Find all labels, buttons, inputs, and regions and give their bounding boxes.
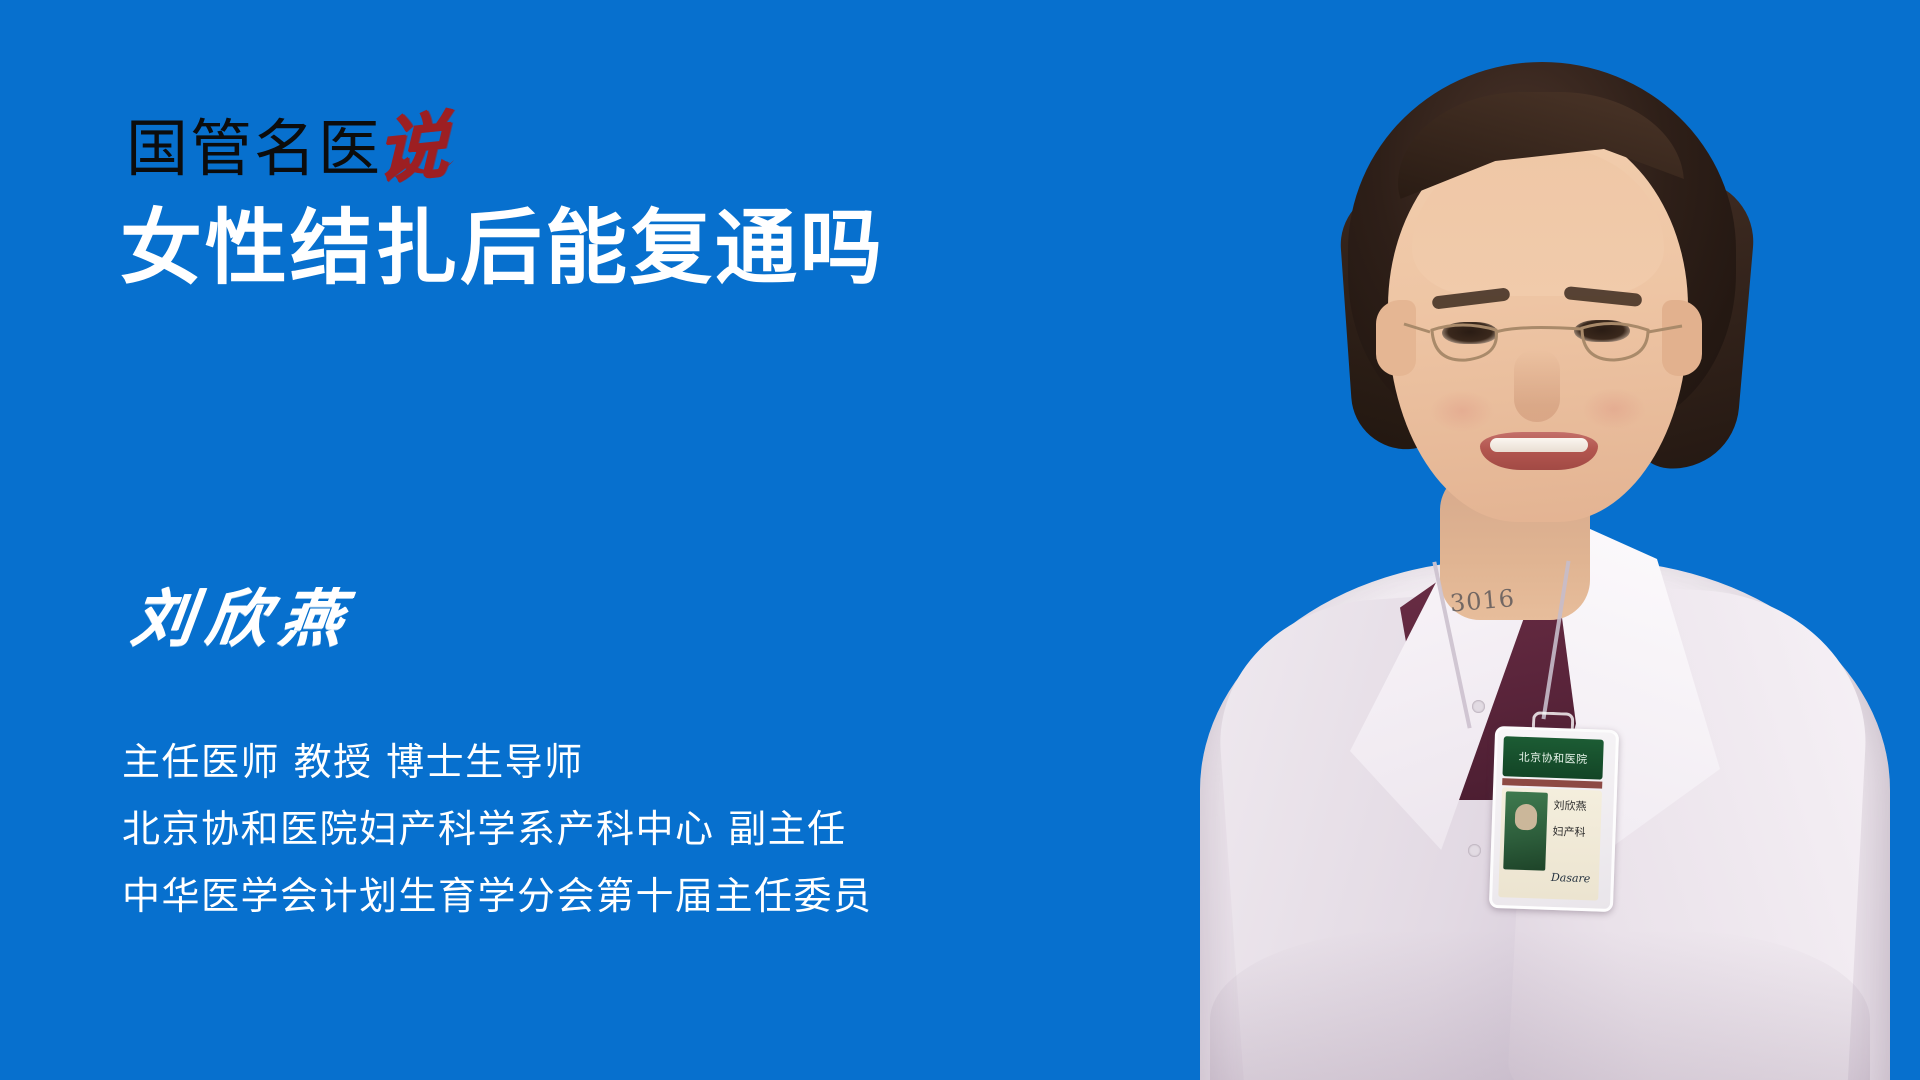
badge-photo-face — [1515, 804, 1538, 831]
hospital-id-badge: 北京协和医院 刘欣燕 妇产科 Dasare — [1489, 726, 1619, 912]
program-logo-main-text: 国管名医 — [126, 118, 382, 180]
badge-hospital-name: 北京协和医院 — [1518, 749, 1588, 767]
doctor-credentials: 主任医师 教授 博士生导师 北京协和医院妇产科学系产科中心 副主任 中华医学会计… — [122, 740, 873, 918]
program-logo: 国管名医 说 — [126, 88, 448, 180]
badge-hospital-banner: 北京协和医院 — [1502, 736, 1603, 779]
nose — [1514, 350, 1560, 422]
doctor-name: 刘欣燕 — [128, 588, 358, 650]
badge-person-name: 刘欣燕 — [1553, 797, 1587, 814]
credential-line-2: 北京协和医院妇产科学系产科中心 副主任 — [122, 807, 873, 852]
coat-button-upper — [1472, 700, 1485, 713]
mouth — [1480, 432, 1598, 470]
video-cover-slide: 国管名医 说 女性结扎后能复通吗 刘欣燕 主任医师 教授 博士生导师 北京协和医… — [0, 0, 1920, 1080]
page-title: 女性结扎后能复通吗 — [120, 203, 885, 295]
credential-line-1: 主任医师 教授 博士生导师 — [122, 740, 873, 785]
teeth — [1490, 438, 1588, 452]
coat-button-lower — [1468, 844, 1481, 857]
cheek-left — [1430, 390, 1494, 432]
credential-line-3: 中华医学会计划生育学分会第十届主任委员 — [122, 874, 873, 919]
badge-photo — [1503, 791, 1548, 870]
badge-brand-mark: Dasare — [1551, 871, 1591, 885]
cheek-right — [1582, 388, 1646, 430]
badge-department: 妇产科 — [1552, 823, 1586, 840]
doctor-portrait-photo: 3016 北京协和医院 刘欣燕 妇产科 Dasare — [1150, 0, 1920, 1080]
shoulder-shadow — [1210, 930, 1870, 1080]
program-logo-accent-text: 说 — [376, 108, 448, 188]
